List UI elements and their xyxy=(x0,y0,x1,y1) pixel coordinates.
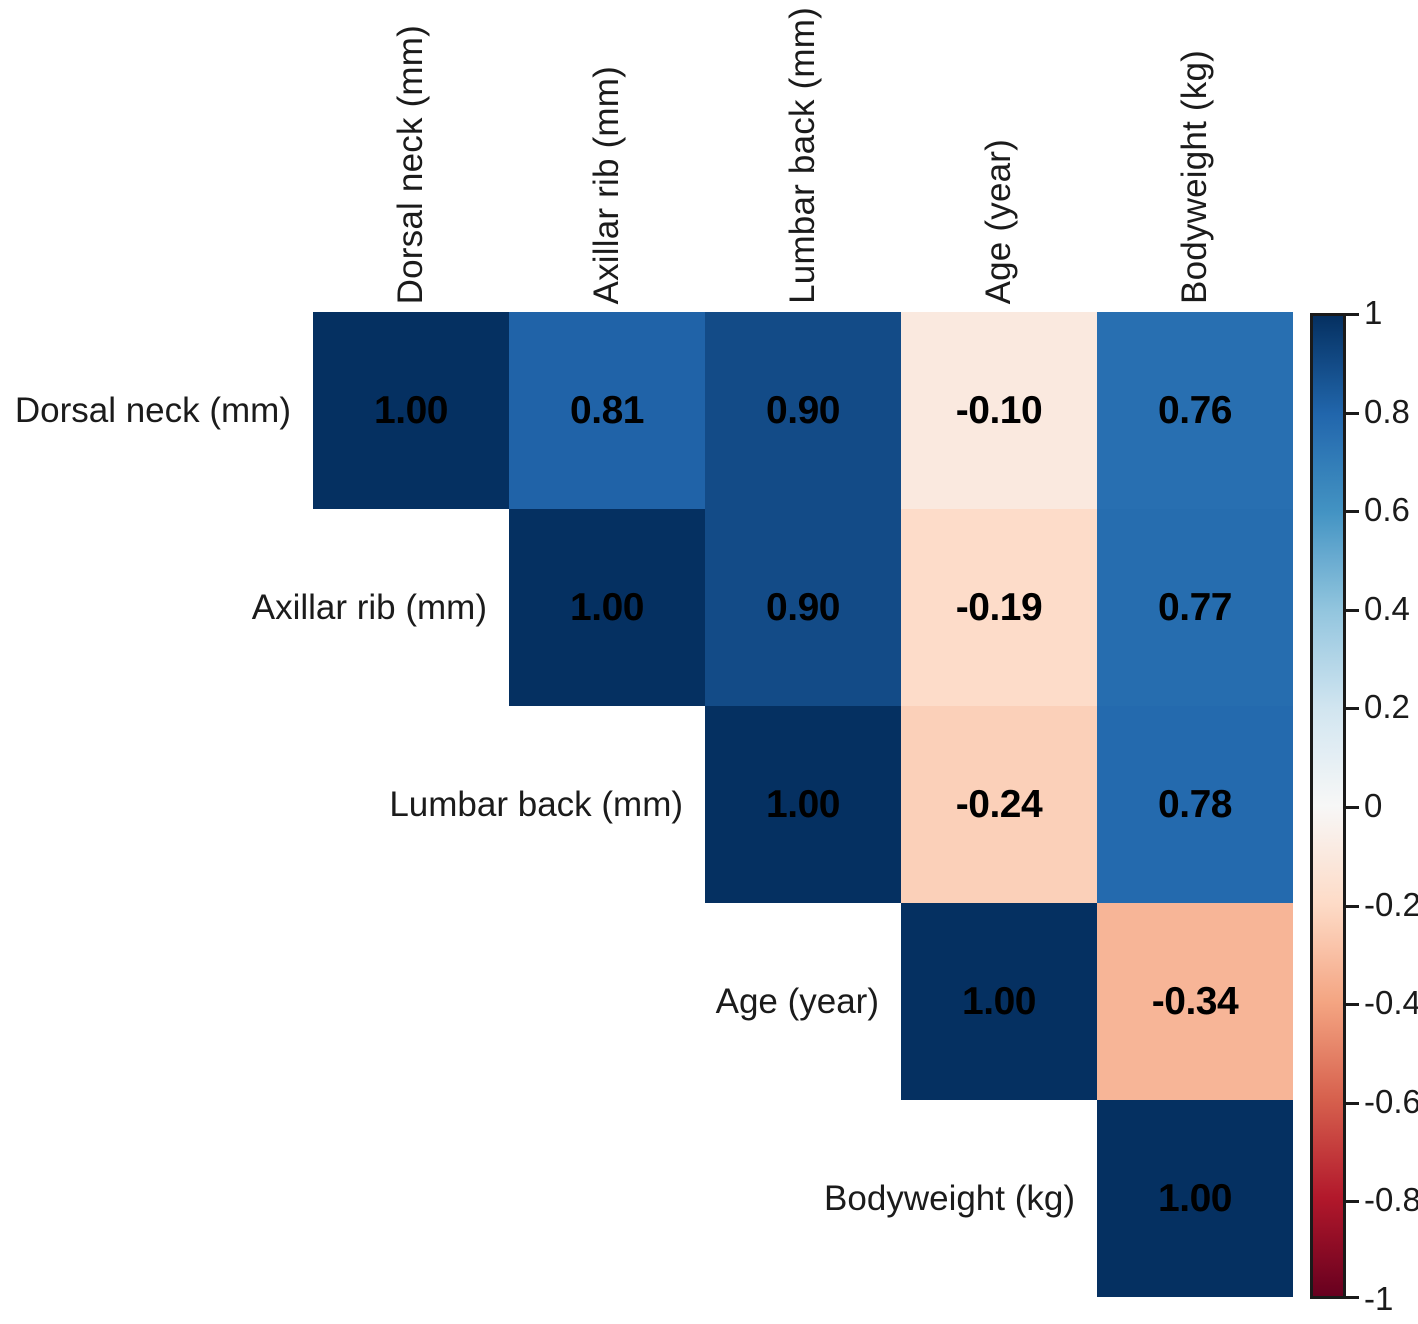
row-label-0: Dorsal neck (mm) xyxy=(0,312,313,509)
heatmap-cell: 0.76 xyxy=(1097,312,1293,509)
heatmap-cell-value: 0.90 xyxy=(766,389,840,433)
heatmap-cell: -0.24 xyxy=(901,706,1097,903)
colorbar-tick-mark xyxy=(1346,806,1359,809)
colorbar-tick-label: -0.6 xyxy=(1364,1083,1418,1121)
column-header-label: Dorsal neck (mm) xyxy=(391,25,431,304)
row-label-1: Axillar rib (mm) xyxy=(0,509,509,706)
heatmap-cell-value: 1.00 xyxy=(766,783,840,827)
heatmap-cell: 1.00 xyxy=(313,312,509,509)
colorbar-tick-mark xyxy=(1346,1003,1359,1006)
heatmap-cell: -0.34 xyxy=(1097,903,1293,1100)
heatmap-cell-value: -0.10 xyxy=(956,389,1042,433)
heatmap-cell: 0.90 xyxy=(705,312,901,509)
heatmap-cell: 1.00 xyxy=(1097,1100,1293,1297)
colorbar-tick-mark xyxy=(1346,1102,1359,1105)
heatmap-cell-value: -0.19 xyxy=(956,586,1042,630)
heatmap-cell: 0.90 xyxy=(705,509,901,706)
colorbar-tick-label: 0.2 xyxy=(1364,688,1410,726)
heatmap-cell-value: 1.00 xyxy=(1158,1177,1232,1221)
heatmap-cell-value: -0.34 xyxy=(1152,980,1238,1024)
heatmap-cell-value: -0.24 xyxy=(956,783,1042,827)
column-header-label: Axillar rib (mm) xyxy=(587,66,627,304)
heatmap-cell-value: 0.76 xyxy=(1158,389,1232,433)
column-header-group: Dorsal neck (mm) Axillar rib (mm) Lumbar… xyxy=(0,0,1418,312)
colorbar-tick-label: 0.8 xyxy=(1364,393,1410,431)
column-header-4: Bodyweight (kg) xyxy=(1097,4,1293,304)
row-label-2: Lumbar back (mm) xyxy=(0,706,705,903)
heatmap-cell: 0.77 xyxy=(1097,509,1293,706)
colorbar-tick-mark xyxy=(1346,313,1359,316)
colorbar-tick-group: 10.80.60.40.20-0.2-0.4-0.6-0.8-1 xyxy=(1346,313,1418,1299)
colorbar-tick-label: 0.4 xyxy=(1364,590,1410,628)
heatmap-cell-value: 0.81 xyxy=(570,389,644,433)
colorbar-tick-mark xyxy=(1346,1296,1359,1299)
colorbar-tick-label: -0.4 xyxy=(1364,984,1418,1022)
column-header-label: Bodyweight (kg) xyxy=(1175,50,1215,304)
heatmap-cell: 1.00 xyxy=(705,706,901,903)
heatmap-cell-value: 0.78 xyxy=(1158,783,1232,827)
heatmap-cell-value: 1.00 xyxy=(374,389,448,433)
heatmap-cell: 1.00 xyxy=(509,509,705,706)
colorbar-tick-label: 1 xyxy=(1364,294,1382,332)
colorbar-tick-mark xyxy=(1346,609,1359,612)
column-header-3: Age (year) xyxy=(901,4,1097,304)
colorbar-tick-label: -0.8 xyxy=(1364,1181,1418,1219)
column-header-1: Axillar rib (mm) xyxy=(509,4,705,304)
heatmap-cell: -0.19 xyxy=(901,509,1097,706)
heatmap-cell: -0.10 xyxy=(901,312,1097,509)
column-header-0: Dorsal neck (mm) xyxy=(313,4,509,304)
heatmap-cell-value: 1.00 xyxy=(962,980,1036,1024)
heatmap-cell-value: 0.77 xyxy=(1158,586,1232,630)
row-label-4: Bodyweight (kg) xyxy=(0,1100,1097,1297)
heatmap-cell: 0.81 xyxy=(509,312,705,509)
row-label-3: Age (year) xyxy=(0,903,901,1100)
colorbar-tick-mark xyxy=(1346,707,1359,710)
heatmap-cell-value: 1.00 xyxy=(570,586,644,630)
colorbar-tick-label: 0 xyxy=(1364,787,1382,825)
colorbar-tick-mark xyxy=(1346,412,1359,415)
colorbar-gradient xyxy=(1313,316,1343,1296)
column-header-label: Lumbar back (mm) xyxy=(783,7,823,304)
colorbar xyxy=(1310,313,1346,1299)
correlation-heatmap-figure: Dorsal neck (mm) Axillar rib (mm) Lumbar… xyxy=(0,0,1418,1324)
column-header-label: Age (year) xyxy=(979,139,1019,304)
colorbar-tick-mark xyxy=(1346,510,1359,513)
colorbar-tick-label: 0.6 xyxy=(1364,491,1410,529)
colorbar-tick-label: -0.2 xyxy=(1364,886,1418,924)
colorbar-tick-label: -1 xyxy=(1364,1280,1393,1318)
colorbar-tick-mark xyxy=(1346,1200,1359,1203)
heatmap-cell: 1.00 xyxy=(901,903,1097,1100)
colorbar-tick-mark xyxy=(1346,905,1359,908)
heatmap-cell-value: 0.90 xyxy=(766,586,840,630)
column-header-2: Lumbar back (mm) xyxy=(705,4,901,304)
heatmap-cell: 0.78 xyxy=(1097,706,1293,903)
